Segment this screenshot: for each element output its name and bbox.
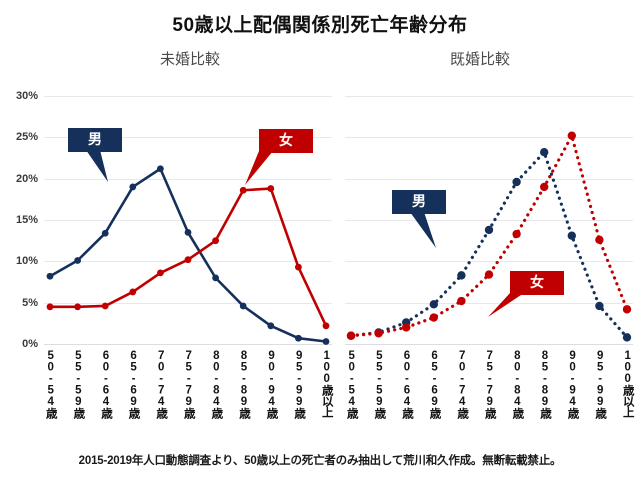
data-point-male	[295, 335, 302, 342]
data-point-female	[74, 303, 81, 310]
x-axis-tick: 95-99歳	[594, 350, 606, 419]
data-point-male	[430, 300, 438, 308]
data-point-female	[540, 183, 548, 191]
data-point-female	[623, 305, 631, 313]
y-axis-tick: 0%	[0, 338, 38, 350]
data-point-female	[430, 313, 438, 321]
x-axis-tick: 85-89歳	[538, 350, 550, 419]
data-point-male	[568, 232, 576, 240]
y-axis-tick: 20%	[0, 173, 38, 185]
x-axis-tick: 80-84歳	[511, 350, 523, 419]
callout-male-right: 男	[392, 190, 446, 214]
x-axis-tick: 80-84歳	[210, 350, 222, 419]
data-point-female	[485, 270, 493, 278]
callout-female-right: 女	[510, 271, 564, 295]
callout-female-right-tail	[488, 293, 540, 327]
x-axis-tick: 100歳以上	[320, 350, 332, 418]
data-point-female	[374, 329, 382, 337]
gridline	[44, 344, 332, 345]
source-note: 2015-2019年人口動態調査より、50歳以上の死亡者のみ抽出して荒川和久作成…	[0, 452, 640, 468]
data-point-female	[295, 264, 302, 271]
x-axis-tick: 85-89歳	[237, 350, 249, 419]
data-point-female	[402, 323, 410, 331]
y-axis-tick: 10%	[0, 255, 38, 267]
data-point-male	[47, 273, 54, 280]
data-point-female	[595, 236, 603, 244]
data-point-female	[47, 303, 54, 310]
x-axis-tick: 60-64歳	[400, 350, 412, 419]
x-axis-tick: 50-54歳	[44, 350, 56, 419]
chart-page: 50歳以上配偶関係別死亡年齢分布 未婚比較 既婚比較 0%5%10%15%20%…	[0, 0, 640, 480]
x-axis-tick: 65-69歳	[428, 350, 440, 419]
data-point-male	[457, 271, 465, 279]
gridline	[345, 344, 633, 345]
data-point-male	[323, 338, 330, 345]
callout-pointer	[410, 212, 436, 248]
data-point-male	[212, 274, 219, 281]
data-point-female	[512, 230, 520, 238]
data-point-female	[157, 270, 164, 277]
callout-pointer	[245, 151, 273, 185]
callout-female-left: 女	[259, 129, 313, 153]
data-point-male	[540, 148, 548, 156]
x-axis-tick: 50-54歳	[345, 350, 357, 419]
data-point-female	[129, 289, 136, 296]
data-point-male	[102, 230, 109, 237]
data-point-male	[157, 165, 164, 172]
x-axis-tick: 100歳以上	[621, 350, 633, 418]
panel-subtitle-right: 既婚比較	[350, 48, 610, 69]
page-title: 50歳以上配偶関係別死亡年齢分布	[0, 10, 640, 37]
x-axis-labels-right: 50-54歳55-59歳60-64歳65-69歳70-74歳75-79歳80-8…	[345, 350, 633, 442]
data-point-female	[212, 237, 219, 244]
y-axis-tick: 30%	[0, 90, 38, 102]
x-axis-tick: 90-94歳	[265, 350, 277, 419]
x-axis-tick: 55-59歳	[373, 350, 385, 419]
callout-male-right-tail	[410, 212, 466, 258]
callout-male-left-tail	[86, 150, 138, 192]
x-axis-tick: 70-74歳	[456, 350, 468, 419]
x-axis-tick: 75-79歳	[182, 350, 194, 419]
x-axis-tick: 65-69歳	[127, 350, 139, 419]
data-point-male	[267, 322, 274, 329]
panel-subtitle-left: 未婚比較	[60, 48, 320, 69]
x-axis-tick: 55-59歳	[72, 350, 84, 419]
x-axis-tick: 90-94歳	[566, 350, 578, 419]
data-point-female	[323, 322, 330, 329]
y-axis-tick: 15%	[0, 214, 38, 226]
x-axis-tick: 95-99歳	[293, 350, 305, 419]
x-axis-tick: 75-79歳	[483, 350, 495, 419]
callout-female-left-tail	[245, 151, 289, 195]
data-point-female	[347, 332, 355, 340]
x-axis-tick: 60-64歳	[99, 350, 111, 419]
data-point-male	[623, 333, 631, 341]
data-point-male	[595, 302, 603, 310]
data-point-male	[485, 226, 493, 234]
data-point-male	[74, 257, 81, 264]
data-point-female	[457, 297, 465, 305]
data-point-female	[102, 303, 109, 310]
x-axis-tick: 70-74歳	[155, 350, 167, 419]
y-axis-labels: 0%5%10%15%20%25%30%	[0, 96, 38, 344]
y-axis-tick: 5%	[0, 297, 38, 309]
data-point-female	[185, 256, 192, 263]
callout-pointer	[488, 293, 524, 317]
data-point-female	[568, 131, 576, 139]
y-axis-tick: 25%	[0, 131, 38, 143]
data-point-male	[185, 229, 192, 236]
callout-male-left: 男	[68, 128, 122, 152]
x-axis-labels-left: 50-54歳55-59歳60-64歳65-69歳70-74歳75-79歳80-8…	[44, 350, 332, 442]
callout-pointer	[86, 150, 108, 182]
data-point-male	[240, 303, 247, 310]
data-point-male	[512, 178, 520, 186]
